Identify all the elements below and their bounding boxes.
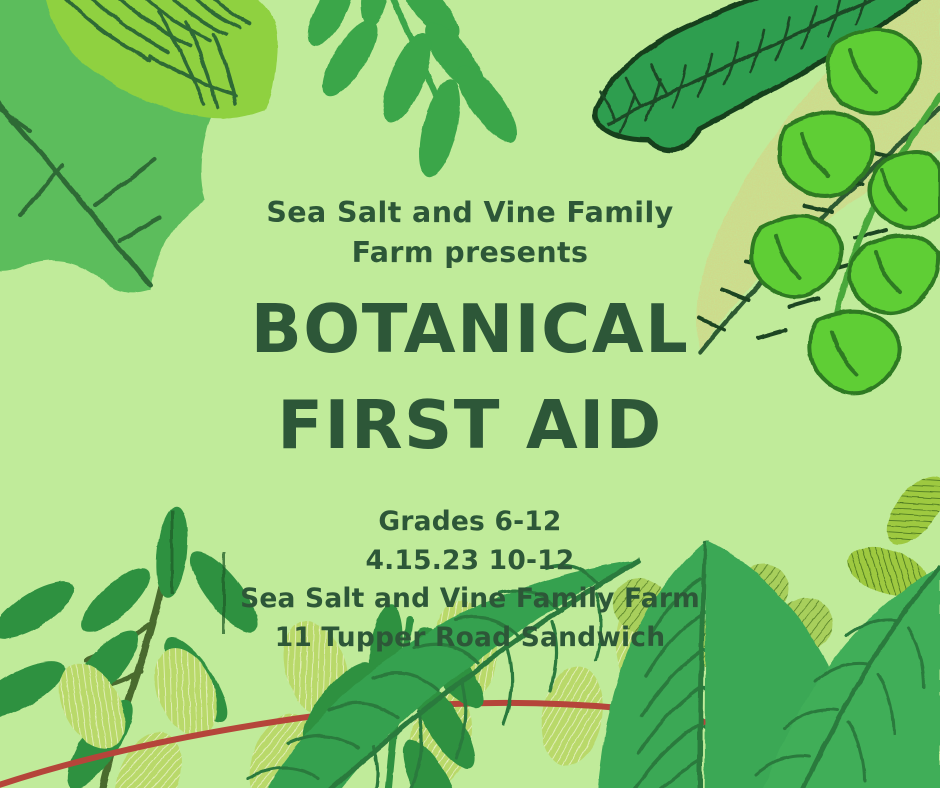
botanical-first-aid-flyer: Sea Salt and Vine Family Farm presents B…: [0, 0, 940, 788]
poster-text-content: Sea Salt and Vine Family Farm presents B…: [0, 0, 940, 788]
detail-address: 11 Tupper Road Sandwich: [240, 619, 700, 658]
headline-line-2: FIRST AID: [277, 392, 662, 459]
presenter-text: Sea Salt and Vine Family Farm presents: [235, 193, 705, 274]
detail-date-time: 4.15.23 10-12: [240, 542, 700, 581]
headline-line-1: BOTANICAL: [251, 296, 690, 363]
event-details: Grades 6-12 4.15.23 10-12 Sea Salt and V…: [240, 503, 700, 658]
presenter-line-1: Sea Salt and Vine Family: [235, 193, 705, 233]
detail-grades: Grades 6-12: [240, 503, 700, 542]
detail-venue: Sea Salt and Vine Family Farm: [240, 580, 700, 619]
presenter-line-2: Farm presents: [235, 233, 705, 273]
